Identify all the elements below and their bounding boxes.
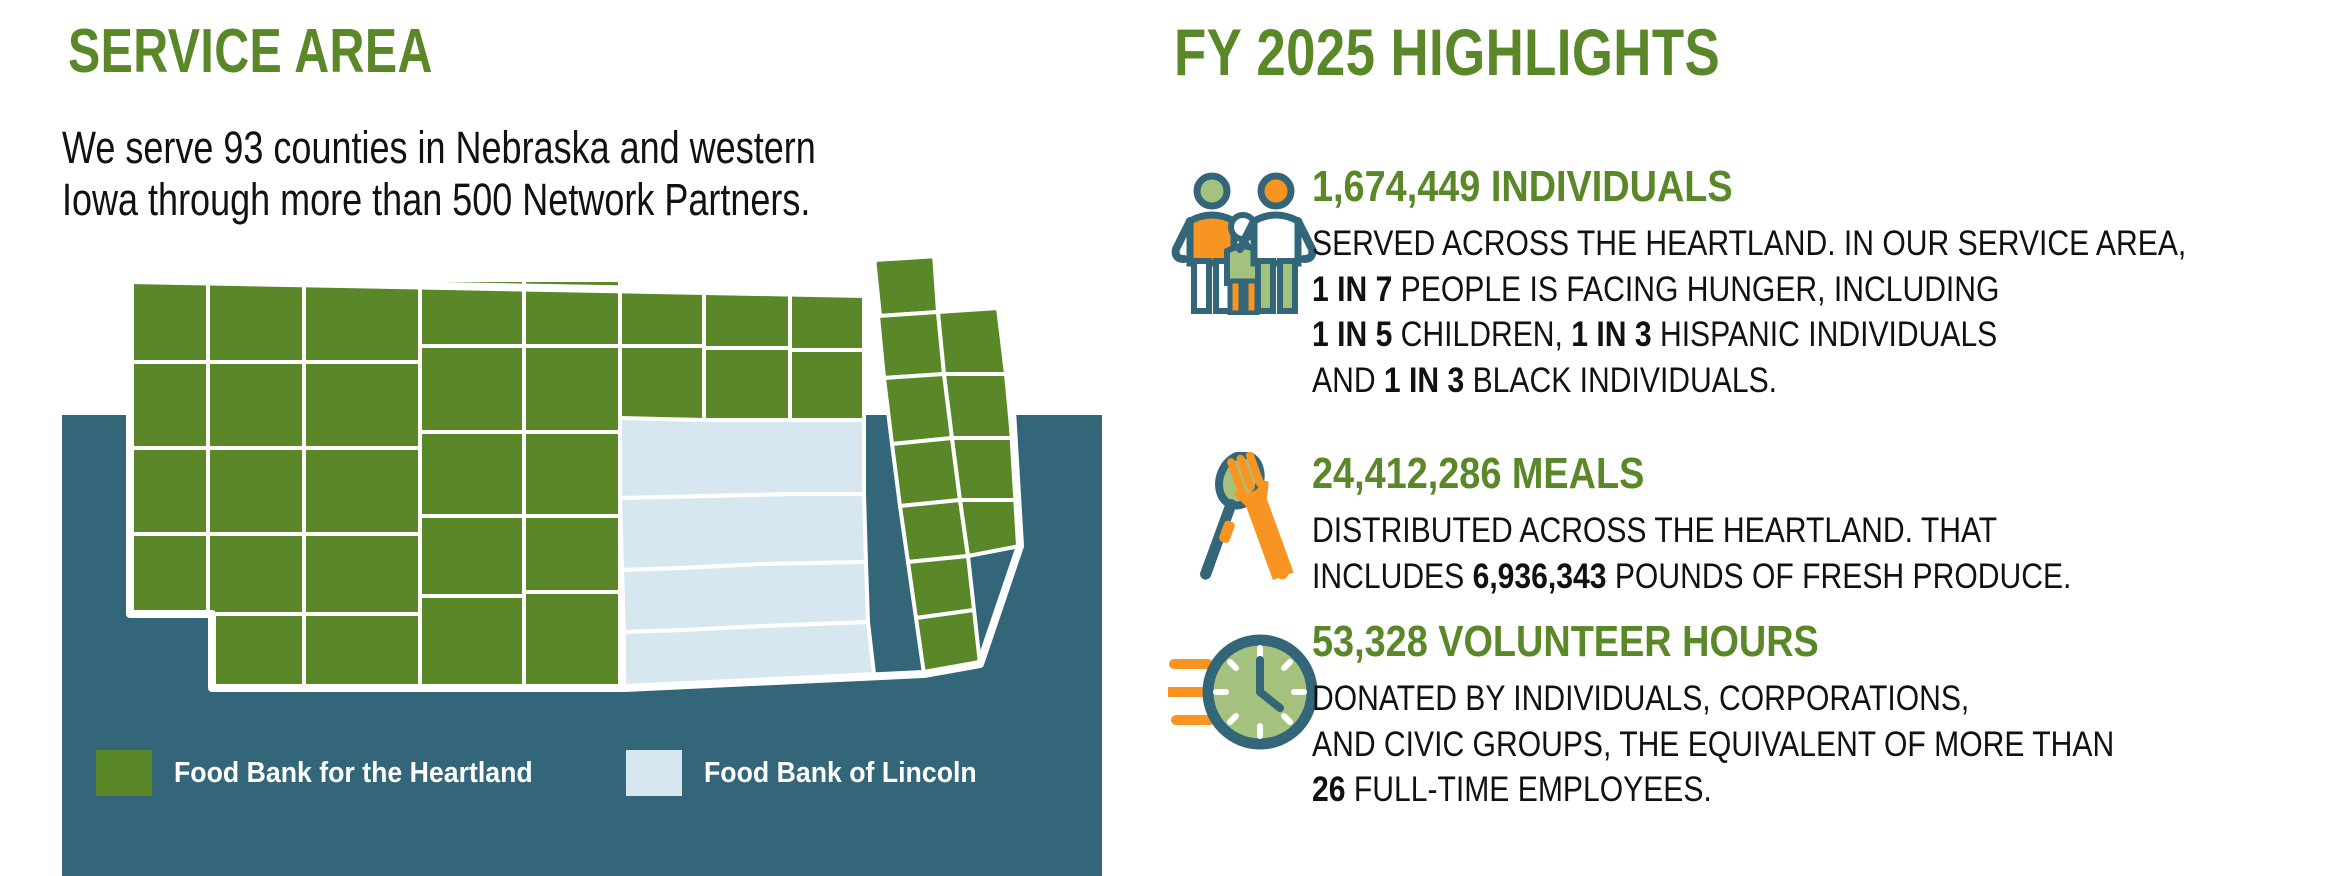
stat-volunteer-lines: DONATED BY INDIVIDUALS, CORPORATIONS,AND… xyxy=(1312,676,2181,813)
map-svg xyxy=(62,250,1102,710)
legend-label-lincoln: Food Bank of Lincoln xyxy=(704,757,977,790)
service-area-title: SERVICE AREA xyxy=(68,16,433,87)
stat-volunteer-body: 53,328 VOLUNTEER HOURS DONATED BY INDIVI… xyxy=(1312,620,2322,813)
service-area-map xyxy=(62,250,1102,710)
legend-label-heartland: Food Bank for the Heartland xyxy=(174,757,533,790)
spoon-fork-icon xyxy=(1168,452,1318,602)
highlights-title: FY 2025 HIGHLIGHTS xyxy=(1174,14,1720,90)
service-area-subtitle-line-1: We serve 93 counties in Nebraska and wes… xyxy=(62,122,816,174)
stat-text-line: SERVED ACROSS THE HEARTLAND. IN OUR SERV… xyxy=(1312,221,2181,267)
stat-text-line: AND 1 IN 3 BLACK INDIVIDUALS. xyxy=(1312,358,2181,404)
map-legend: Food Bank for the Heartland Food Bank of… xyxy=(96,750,1056,806)
stat-text-line: INCLUDES 6,936,343 POUNDS OF FRESH PRODU… xyxy=(1312,554,2181,600)
map-region-lincoln xyxy=(620,418,874,688)
stat-volunteer-headline: 53,328 VOLUNTEER HOURS xyxy=(1312,620,2181,664)
legend-item-lincoln: Food Bank of Lincoln xyxy=(626,750,1000,796)
map-region-heartland xyxy=(130,254,1020,688)
stat-meals-headline: 24,412,286 MEALS xyxy=(1312,452,2181,496)
stat-text-line: 1 IN 7 PEOPLE IS FACING HUNGER, INCLUDIN… xyxy=(1312,267,2181,313)
infographic-page: SERVICE AREA We serve 93 counties in Neb… xyxy=(0,0,2326,876)
stat-individuals-lines: SERVED ACROSS THE HEARTLAND. IN OUR SERV… xyxy=(1312,221,2181,403)
legend-item-heartland: Food Bank for the Heartland xyxy=(96,750,564,796)
stat-text-line: 26 FULL-TIME EMPLOYEES. xyxy=(1312,767,2181,813)
stat-text-line: AND CIVIC GROUPS, THE EQUIVALENT OF MORE… xyxy=(1312,722,2181,768)
legend-swatch-blue xyxy=(626,750,682,796)
legend-swatch-green xyxy=(96,750,152,796)
stat-individuals-body: 1,674,449 INDIVIDUALS SERVED ACROSS THE … xyxy=(1312,165,2322,403)
stat-text-line: 1 IN 5 CHILDREN, 1 IN 3 HISPANIC INDIVID… xyxy=(1312,312,2181,358)
highlights-section: FY 2025 HIGHLIGHTS xyxy=(1150,0,2326,876)
family-group-icon xyxy=(1168,165,1318,315)
clock-speed-icon xyxy=(1168,620,1318,770)
service-area-subtitle: We serve 93 counties in Nebraska and wes… xyxy=(62,122,816,226)
stat-individuals-headline: 1,674,449 INDIVIDUALS xyxy=(1312,165,2181,209)
service-area-section: SERVICE AREA We serve 93 counties in Neb… xyxy=(0,0,1120,876)
stat-text-line: DONATED BY INDIVIDUALS, CORPORATIONS, xyxy=(1312,676,2181,722)
service-area-subtitle-line-2: Iowa through more than 500 Network Partn… xyxy=(62,174,816,226)
stat-text-line: DISTRIBUTED ACROSS THE HEARTLAND. THAT xyxy=(1312,508,2181,554)
stat-meals-lines: DISTRIBUTED ACROSS THE HEARTLAND. THATIN… xyxy=(1312,508,2181,599)
stat-meals-body: 24,412,286 MEALS DISTRIBUTED ACROSS THE … xyxy=(1312,452,2322,599)
